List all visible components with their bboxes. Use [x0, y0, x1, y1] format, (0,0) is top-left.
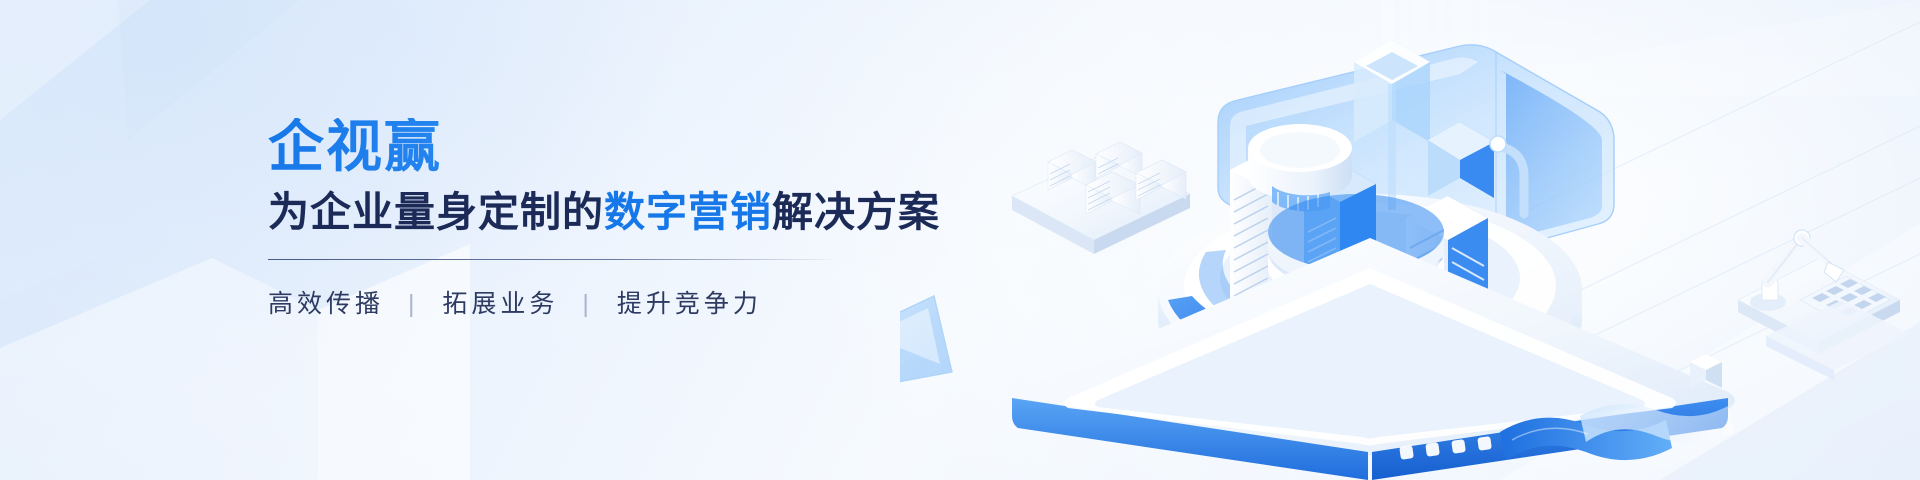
marketing-banner: 企视赢 为企业量身定制的数字营销解决方案 高效传播 | 拓展业务 | 提升竞争力: [0, 0, 1920, 480]
tagline: 高效传播 | 拓展业务 | 提升竞争力: [268, 284, 908, 320]
divider-line: [268, 259, 831, 260]
building-tile: [1012, 142, 1190, 254]
banner-text-block: 企视赢 为企业量身定制的数字营销解决方案 高效传播 | 拓展业务 | 提升竞争力: [268, 118, 908, 320]
tagline-item-2: 拓展业务: [442, 290, 558, 318]
tagline-separator-1: |: [408, 290, 419, 318]
hero-illustration: [900, 0, 1920, 480]
tagline-item-1: 高效传播: [268, 290, 384, 318]
tagline-separator-2: |: [582, 290, 593, 318]
headline-prefix: 为企业量身定制的: [268, 189, 604, 235]
tagline-item-3: 提升竞争力: [617, 290, 762, 318]
headline-highlight: 数字营销: [604, 189, 772, 235]
headline: 为企业量身定制的数字营销解决方案: [268, 188, 908, 236]
brand-title: 企视赢: [268, 118, 908, 176]
headline-suffix: 解决方案: [772, 189, 940, 235]
